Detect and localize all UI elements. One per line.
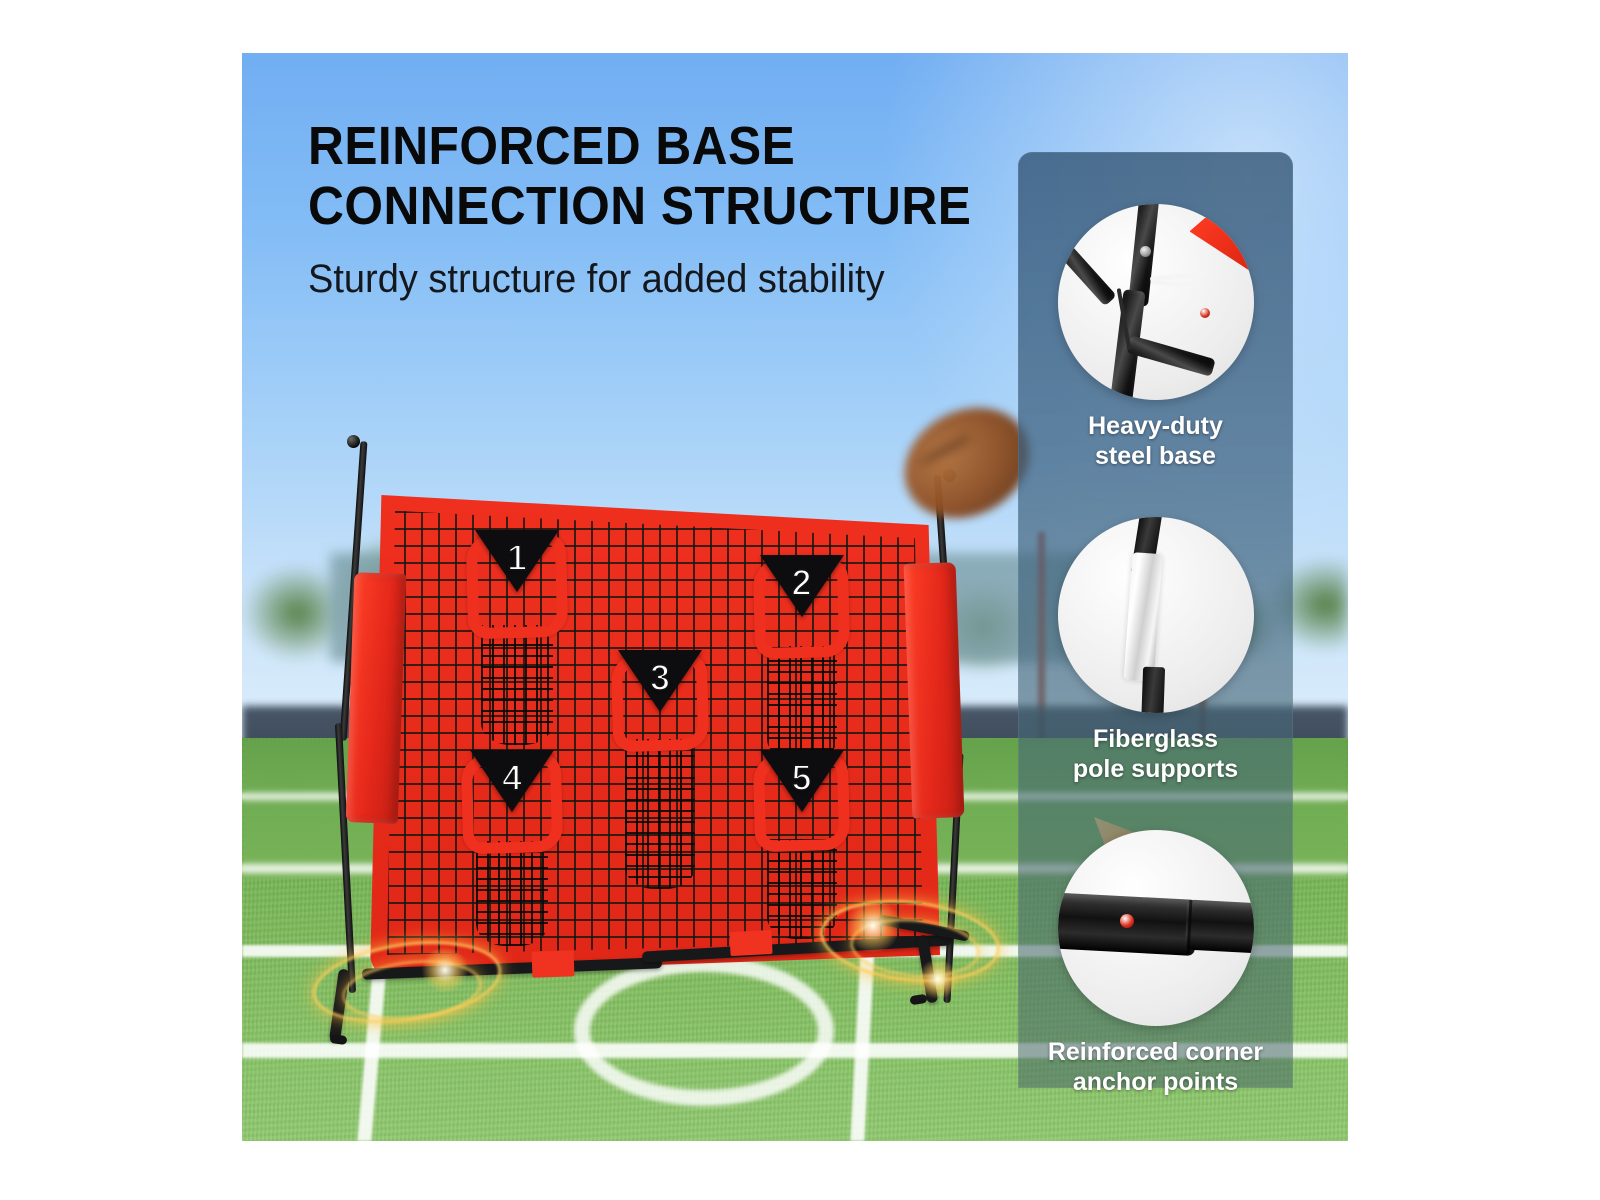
anchor-pin-button	[1120, 914, 1134, 928]
left-side-wing	[346, 572, 407, 824]
target-3-pocket	[625, 739, 695, 889]
target-2-pocket	[767, 646, 837, 761]
diagonal-pole	[1058, 232, 1117, 307]
target-5-number: 5	[791, 757, 811, 799]
target-1-number: 1	[507, 537, 527, 579]
product-marketing-image: REINFORCED BASE CONNECTION STRUCTURE Stu…	[0, 0, 1600, 1200]
target-2: 2	[754, 558, 849, 658]
right-stake-foot	[909, 994, 927, 1006]
football-seam	[919, 434, 973, 467]
left-pole-tip	[347, 435, 360, 448]
target-4-pocket	[476, 841, 548, 946]
corner-anchor-icon	[1058, 830, 1254, 1026]
anchor-button	[1200, 308, 1210, 318]
anchor-tube-right	[1184, 900, 1253, 955]
cable-tie	[1151, 280, 1201, 287]
target-4: 4	[462, 753, 562, 853]
fiberglass-sleeve	[1123, 552, 1162, 682]
target-4-number: 4	[502, 757, 522, 799]
feature-label-3: Reinforced corner anchor points	[1048, 1038, 1263, 1097]
image-canvas: REINFORCED BASE CONNECTION STRUCTURE Stu…	[242, 53, 1348, 1141]
red-fabric-corner	[1190, 218, 1254, 292]
headline-subtitle: Sturdy structure for added stability	[308, 257, 964, 302]
feature-label-2: Fiberglass pole supports	[1073, 725, 1238, 784]
target-1: 1	[467, 533, 567, 638]
headline-line-2: CONNECTION STRUCTURE	[308, 176, 943, 236]
base-velcro-strap	[532, 950, 575, 977]
headline-block: REINFORCED BASE CONNECTION STRUCTURE Stu…	[308, 116, 998, 302]
feature-reinforced-corner-anchor-points: Reinforced corner anchor points	[1018, 830, 1293, 1097]
fiberglass-pole-icon	[1058, 517, 1254, 713]
pole-screw	[1140, 246, 1151, 257]
feature-label-1: Heavy-duty steel base	[1088, 412, 1223, 471]
steel-base-joint-icon	[1058, 204, 1254, 400]
feature-heavy-duty-steel-base: Heavy-duty steel base	[1018, 204, 1293, 471]
glow-sparkle	[422, 947, 468, 993]
glow-sparkle	[918, 959, 958, 999]
target-5: 5	[754, 753, 849, 851]
base-velcro-strap	[729, 930, 772, 956]
feature-panel: Heavy-duty steel base Fiberglass pole su…	[1018, 152, 1293, 1088]
football-training-net: 1 2 3 4	[322, 423, 1022, 1063]
target-3: 3	[612, 653, 708, 751]
headline-line-1: REINFORCED BASE	[308, 116, 943, 176]
target-3-number: 3	[650, 657, 670, 699]
pole-lower-black	[1140, 667, 1164, 713]
right-side-wing	[904, 562, 965, 819]
target-1-pocket	[481, 625, 553, 745]
feature-fiberglass-pole-supports: Fiberglass pole supports	[1018, 517, 1293, 784]
left-stake-foot	[329, 1034, 347, 1045]
target-2-number: 2	[791, 562, 811, 604]
horizontal-pole	[1126, 335, 1216, 377]
glow-sparkle	[846, 899, 900, 953]
